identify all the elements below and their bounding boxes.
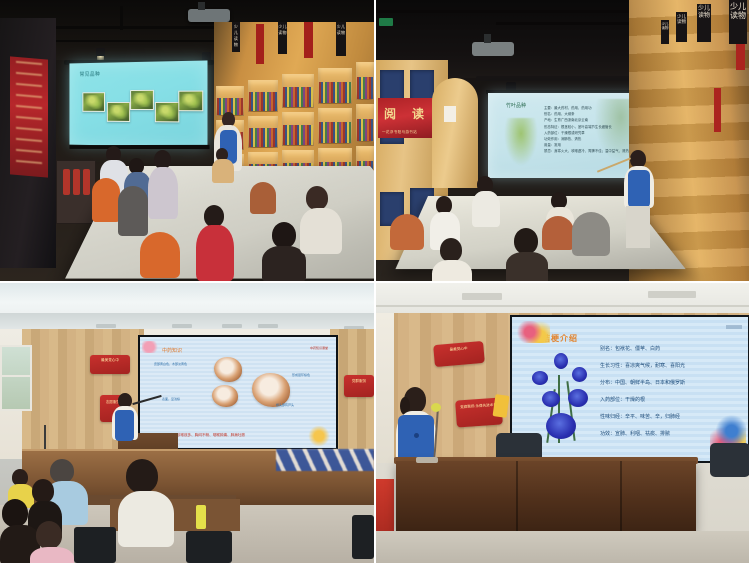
photo-top-left: 常见品种 [0, 0, 374, 281]
reading-banner: 阅 读 一花浮书阳马游书站 [378, 98, 438, 138]
slide-text-block: 主要：最大药材、药用、药用功 别名：药用、大纲条 产地：生育广西浙南北京云南 形… [544, 105, 632, 155]
stacked-supplies [276, 449, 374, 471]
slide-line: 禁忌：身寒火大、咳嗽虚冷、胃脾不佳；温中益气、清热止咳 [544, 148, 632, 154]
shelf-sign: 少儿读物 [676, 12, 687, 42]
wall-decoration-ribbon: 最美党心中 [433, 341, 485, 367]
red-hanging-sign [304, 22, 313, 58]
slide-thumbnail [82, 92, 105, 112]
root-cross-section [212, 385, 238, 407]
slide-line: 生长习性：喜凉爽气候，耐寒、喜阳光 [600, 358, 749, 375]
shelf-sign: 少儿读物 [697, 4, 711, 42]
photo-collage: 常见品种 [0, 0, 749, 563]
slide-cloud-decoration [516, 321, 550, 343]
floor [376, 531, 749, 563]
archway [432, 78, 478, 188]
screen-bottom-bar [70, 145, 210, 149]
projector [188, 9, 230, 22]
root-cross-section [252, 373, 290, 407]
chair [92, 178, 120, 222]
chair [542, 216, 574, 250]
wall-decoration-ribbon: 党群服务 [344, 375, 374, 397]
shelf-sign: 少儿读物 [336, 22, 346, 56]
projector [472, 42, 514, 56]
ceiling-vent [258, 324, 278, 328]
window [0, 345, 32, 411]
reading-banner [10, 56, 48, 177]
shelf-sign: 少儿读物 [729, 0, 747, 44]
slide-line: 入药部位：干燥的根 [600, 392, 749, 409]
shelf-sign: 少儿读物 [661, 20, 669, 44]
blue-volunteer-vest [628, 170, 650, 208]
exit-sign [379, 18, 393, 26]
vest-badge [414, 433, 419, 438]
slide-annotation: 表面，显浅棕 [162, 397, 180, 401]
slide-title: 竹叶品种 [506, 102, 526, 109]
platycodon-flower-illustration [530, 345, 600, 445]
wall-decoration-ribbon: 最美党心中 [90, 355, 130, 374]
photo-bottom-right: 最美党心中 党旗飘扬 永葆先进本色 桔梗介绍 [376, 283, 749, 563]
root-cross-section [214, 357, 242, 382]
chair [250, 182, 276, 214]
slide-cloud-decoration [306, 426, 332, 446]
ceiling-vent [648, 291, 696, 298]
pointer-tip [431, 403, 441, 412]
yellow-item [196, 505, 206, 529]
slide-cloud-decoration [142, 341, 160, 353]
slide-corner-mark [726, 325, 742, 329]
slide-thumbnail [107, 102, 130, 122]
ceiling-beam [120, 6, 123, 30]
slide-thumbnail [130, 90, 154, 110]
podium [396, 461, 696, 531]
shelf-sign: 少儿读物 [278, 22, 287, 54]
slide-corner-label: 中药知识课堂 [310, 346, 328, 350]
red-storage-box [376, 479, 394, 537]
slide-annotation: 根头部有芦头 [276, 403, 294, 407]
ceiling-vent [96, 324, 116, 328]
slide-thumbnail [155, 102, 179, 122]
slide-title: 中药知识 [162, 347, 182, 354]
notice-paper [444, 106, 456, 122]
chair [390, 214, 424, 250]
led-panel: 中药知识 中药知识课堂 皮部黄白色，木部淡黄色 形成层环棕色 表面，显浅棕 根头… [140, 337, 336, 448]
slide-line: 分布：中国、朝鲜半岛、日本和俄罗斯 [600, 375, 749, 392]
chair [74, 527, 116, 563]
red-hanging-sign [256, 24, 264, 64]
projection-screen: 常见品种 [69, 60, 207, 147]
photo-bottom-left: 最美党心中 志愿服务 党群服务 中药知识 中药知识课堂 皮部黄白色，木部淡黄色 … [0, 283, 374, 563]
slide-title: 常见品种 [80, 71, 101, 78]
chair [118, 186, 148, 236]
side-wall [376, 313, 394, 463]
chair [352, 515, 374, 559]
chair [186, 531, 232, 563]
photo-top-right: 阅 读 一花浮书阳马游书站 竹叶品种 主要：最大药材、药用、药用功 别名：药用、… [376, 0, 749, 281]
led-display: 桔梗介绍 别名：包袱花、僵苹、白药 生长习性：喜 [510, 315, 749, 463]
shelf-sign: 少儿读物 [232, 22, 240, 52]
chair [572, 212, 610, 256]
ceiling-line [376, 305, 749, 307]
office-chair [710, 443, 749, 477]
herb-illustration [502, 118, 540, 170]
ceiling-vent [172, 324, 192, 328]
ceiling-vent [462, 293, 502, 300]
chair [140, 232, 180, 278]
banner-subtext: 一花浮书阳马游书站 [382, 130, 417, 135]
ceiling-light [96, 48, 105, 57]
desk-item [416, 457, 438, 463]
fire-cabinet [56, 160, 96, 224]
slide-line: 别名：包袱花、僵苹、白药 [600, 341, 749, 358]
ceiling-vent [222, 324, 242, 328]
blue-volunteer-vest [115, 410, 134, 441]
led-panel: 桔梗介绍 别名：包袱花、僵苹、白药 生长习性：喜 [512, 317, 748, 461]
banner-char: 阅 [384, 105, 396, 122]
banner-char: 读 [412, 105, 424, 122]
slide-annotation: 形成层环棕色 [292, 373, 310, 377]
slide-thumbnail [178, 91, 203, 112]
slide-annotation: 皮部黄白色，木部淡黄色 [154, 362, 187, 366]
